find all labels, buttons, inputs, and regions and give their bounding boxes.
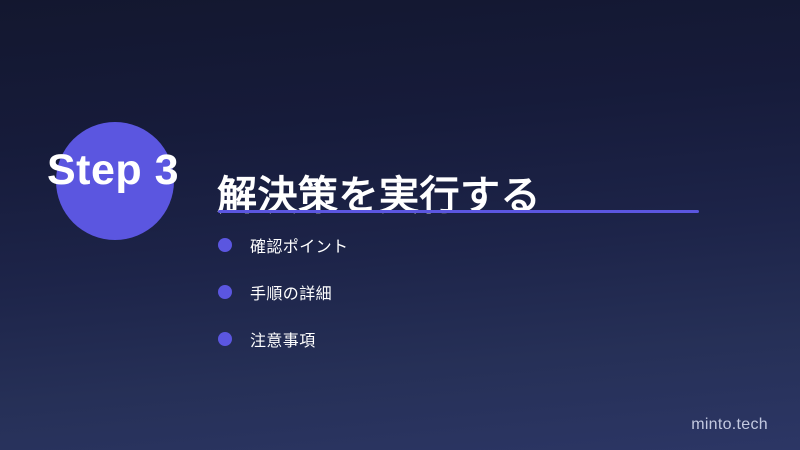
footer-brand: minto.tech [691,417,768,433]
bullet-list: 確認ポイント 手順の詳細 注意事項 [218,230,698,371]
list-item-label: 確認ポイント [250,233,348,257]
bullet-dot-icon [218,238,232,252]
list-item-label: 注意事項 [250,327,316,351]
bullet-dot-icon [218,332,232,346]
list-item: 注意事項 [218,324,698,354]
title-divider [218,210,699,213]
step-badge-label: Step 3 [47,149,179,192]
list-item: 手順の詳細 [218,277,698,307]
presentation-slide: Step 3 解決策を実行する 確認ポイント 手順の詳細 注意事項 minto.… [0,0,800,450]
list-item-label: 手順の詳細 [250,280,332,304]
bullet-dot-icon [218,285,232,299]
list-item: 確認ポイント [218,230,698,260]
